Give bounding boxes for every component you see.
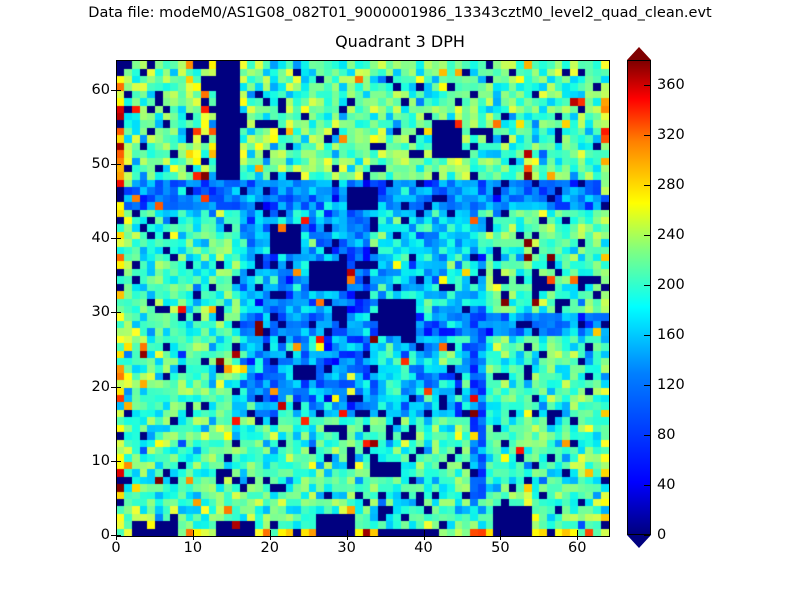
colorbar-tick-label: 360 [657,77,685,93]
x-tick-label: 60 [568,540,586,556]
x-tick-inner [347,530,348,535]
colorbar-tick [644,535,650,536]
colorbar-tick [644,135,650,136]
heatmap-image [117,61,609,536]
y-tick-label: 10 [92,453,110,469]
colorbar-tick [644,335,650,336]
colorbar-tick-label: 0 [657,527,666,543]
y-tick-inner [116,535,121,536]
x-tick-inner [500,530,501,535]
colorbar-gradient [627,60,651,535]
colorbar-tick-label: 320 [657,127,685,143]
x-tick-inner [424,530,425,535]
heatmap-axes[interactable] [116,60,610,537]
colorbar-under-arrow [627,535,651,548]
x-tick-label: 0 [111,540,120,556]
y-tick-inner [116,312,121,313]
colorbar-tick-label: 120 [657,377,685,393]
y-tick-label: 0 [101,527,110,543]
y-tick-inner [116,90,121,91]
y-tick-inner [116,387,121,388]
y-tick-label: 50 [92,156,110,172]
colorbar-tick [644,435,650,436]
colorbar-tick-label: 40 [657,477,675,493]
y-tick-inner [116,461,121,462]
x-tick-inner [270,530,271,535]
colorbar-tick [644,385,650,386]
y-tick-inner [116,164,121,165]
y-tick-label: 60 [92,82,110,98]
y-tick-inner [116,238,121,239]
colorbar-tick [644,485,650,486]
y-tick-label: 30 [92,304,110,320]
y-tick-label: 40 [92,230,110,246]
x-tick-inner [577,530,578,535]
y-tick-label: 20 [92,379,110,395]
colorbar-tick [644,85,650,86]
colorbar-tick [644,285,650,286]
x-tick-label: 30 [337,540,355,556]
x-tick-label: 50 [491,540,509,556]
x-tick-label: 10 [184,540,202,556]
x-tick-label: 20 [261,540,279,556]
colorbar-tick [644,185,650,186]
x-tick-inner [193,530,194,535]
data-file-suptitle: Data file: modeM0/AS1G08_082T01_90000019… [0,5,800,21]
colorbar-tick-label: 160 [657,327,685,343]
colorbar-tick [644,235,650,236]
plot-title: Quadrant 3 DPH [0,32,800,51]
x-tick-label: 40 [414,540,432,556]
colorbar-tick-label: 280 [657,177,685,193]
colorbar[interactable] [627,60,651,535]
colorbar-tick-label: 80 [657,427,675,443]
colorbar-tick-label: 240 [657,227,685,243]
colorbar-tick-label: 200 [657,277,685,293]
colorbar-over-arrow [627,47,651,60]
